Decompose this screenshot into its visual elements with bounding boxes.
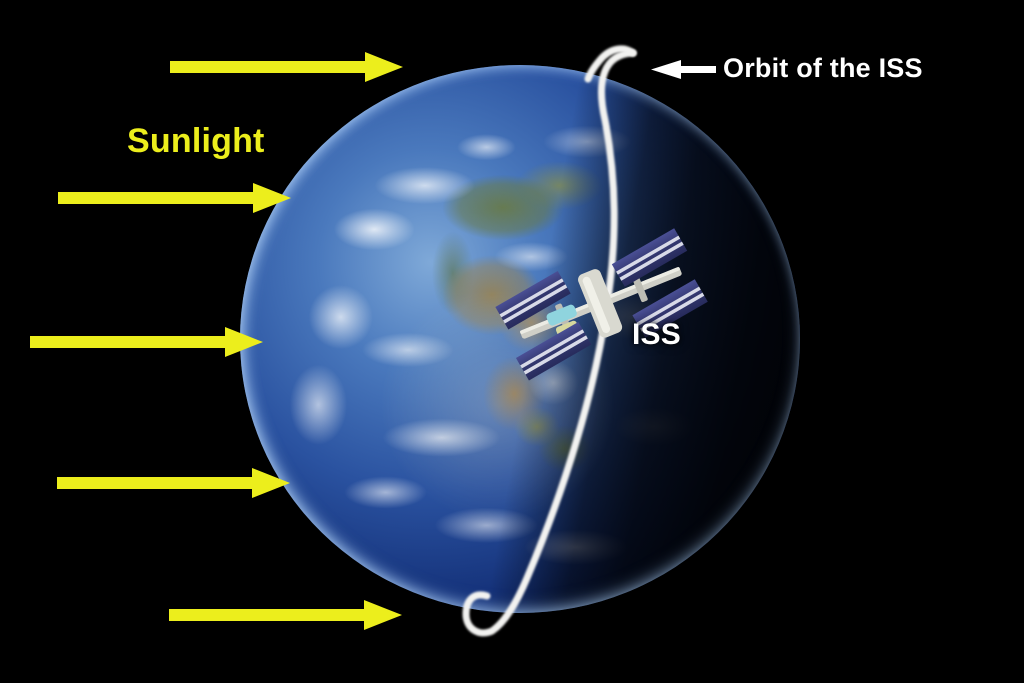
sunlight-arrow-3	[30, 327, 263, 357]
diagram-overlay	[0, 0, 1024, 683]
sunlight-arrow-5	[169, 600, 402, 630]
iss-spacecraft	[492, 223, 712, 385]
sunlight-arrow-4	[57, 468, 290, 498]
orbit-pointer-arrow	[651, 60, 716, 79]
orbit-of-the-iss-label: Orbit of the ISS	[723, 53, 923, 84]
iss-orbit-diagram: Sunlight Orbit of the ISS ISS	[0, 0, 1024, 683]
sunlight-arrow-2	[58, 183, 291, 213]
iss-label: ISS	[632, 318, 681, 352]
sunlight-label: Sunlight	[127, 122, 265, 161]
sunlight-arrow-1	[170, 52, 403, 82]
